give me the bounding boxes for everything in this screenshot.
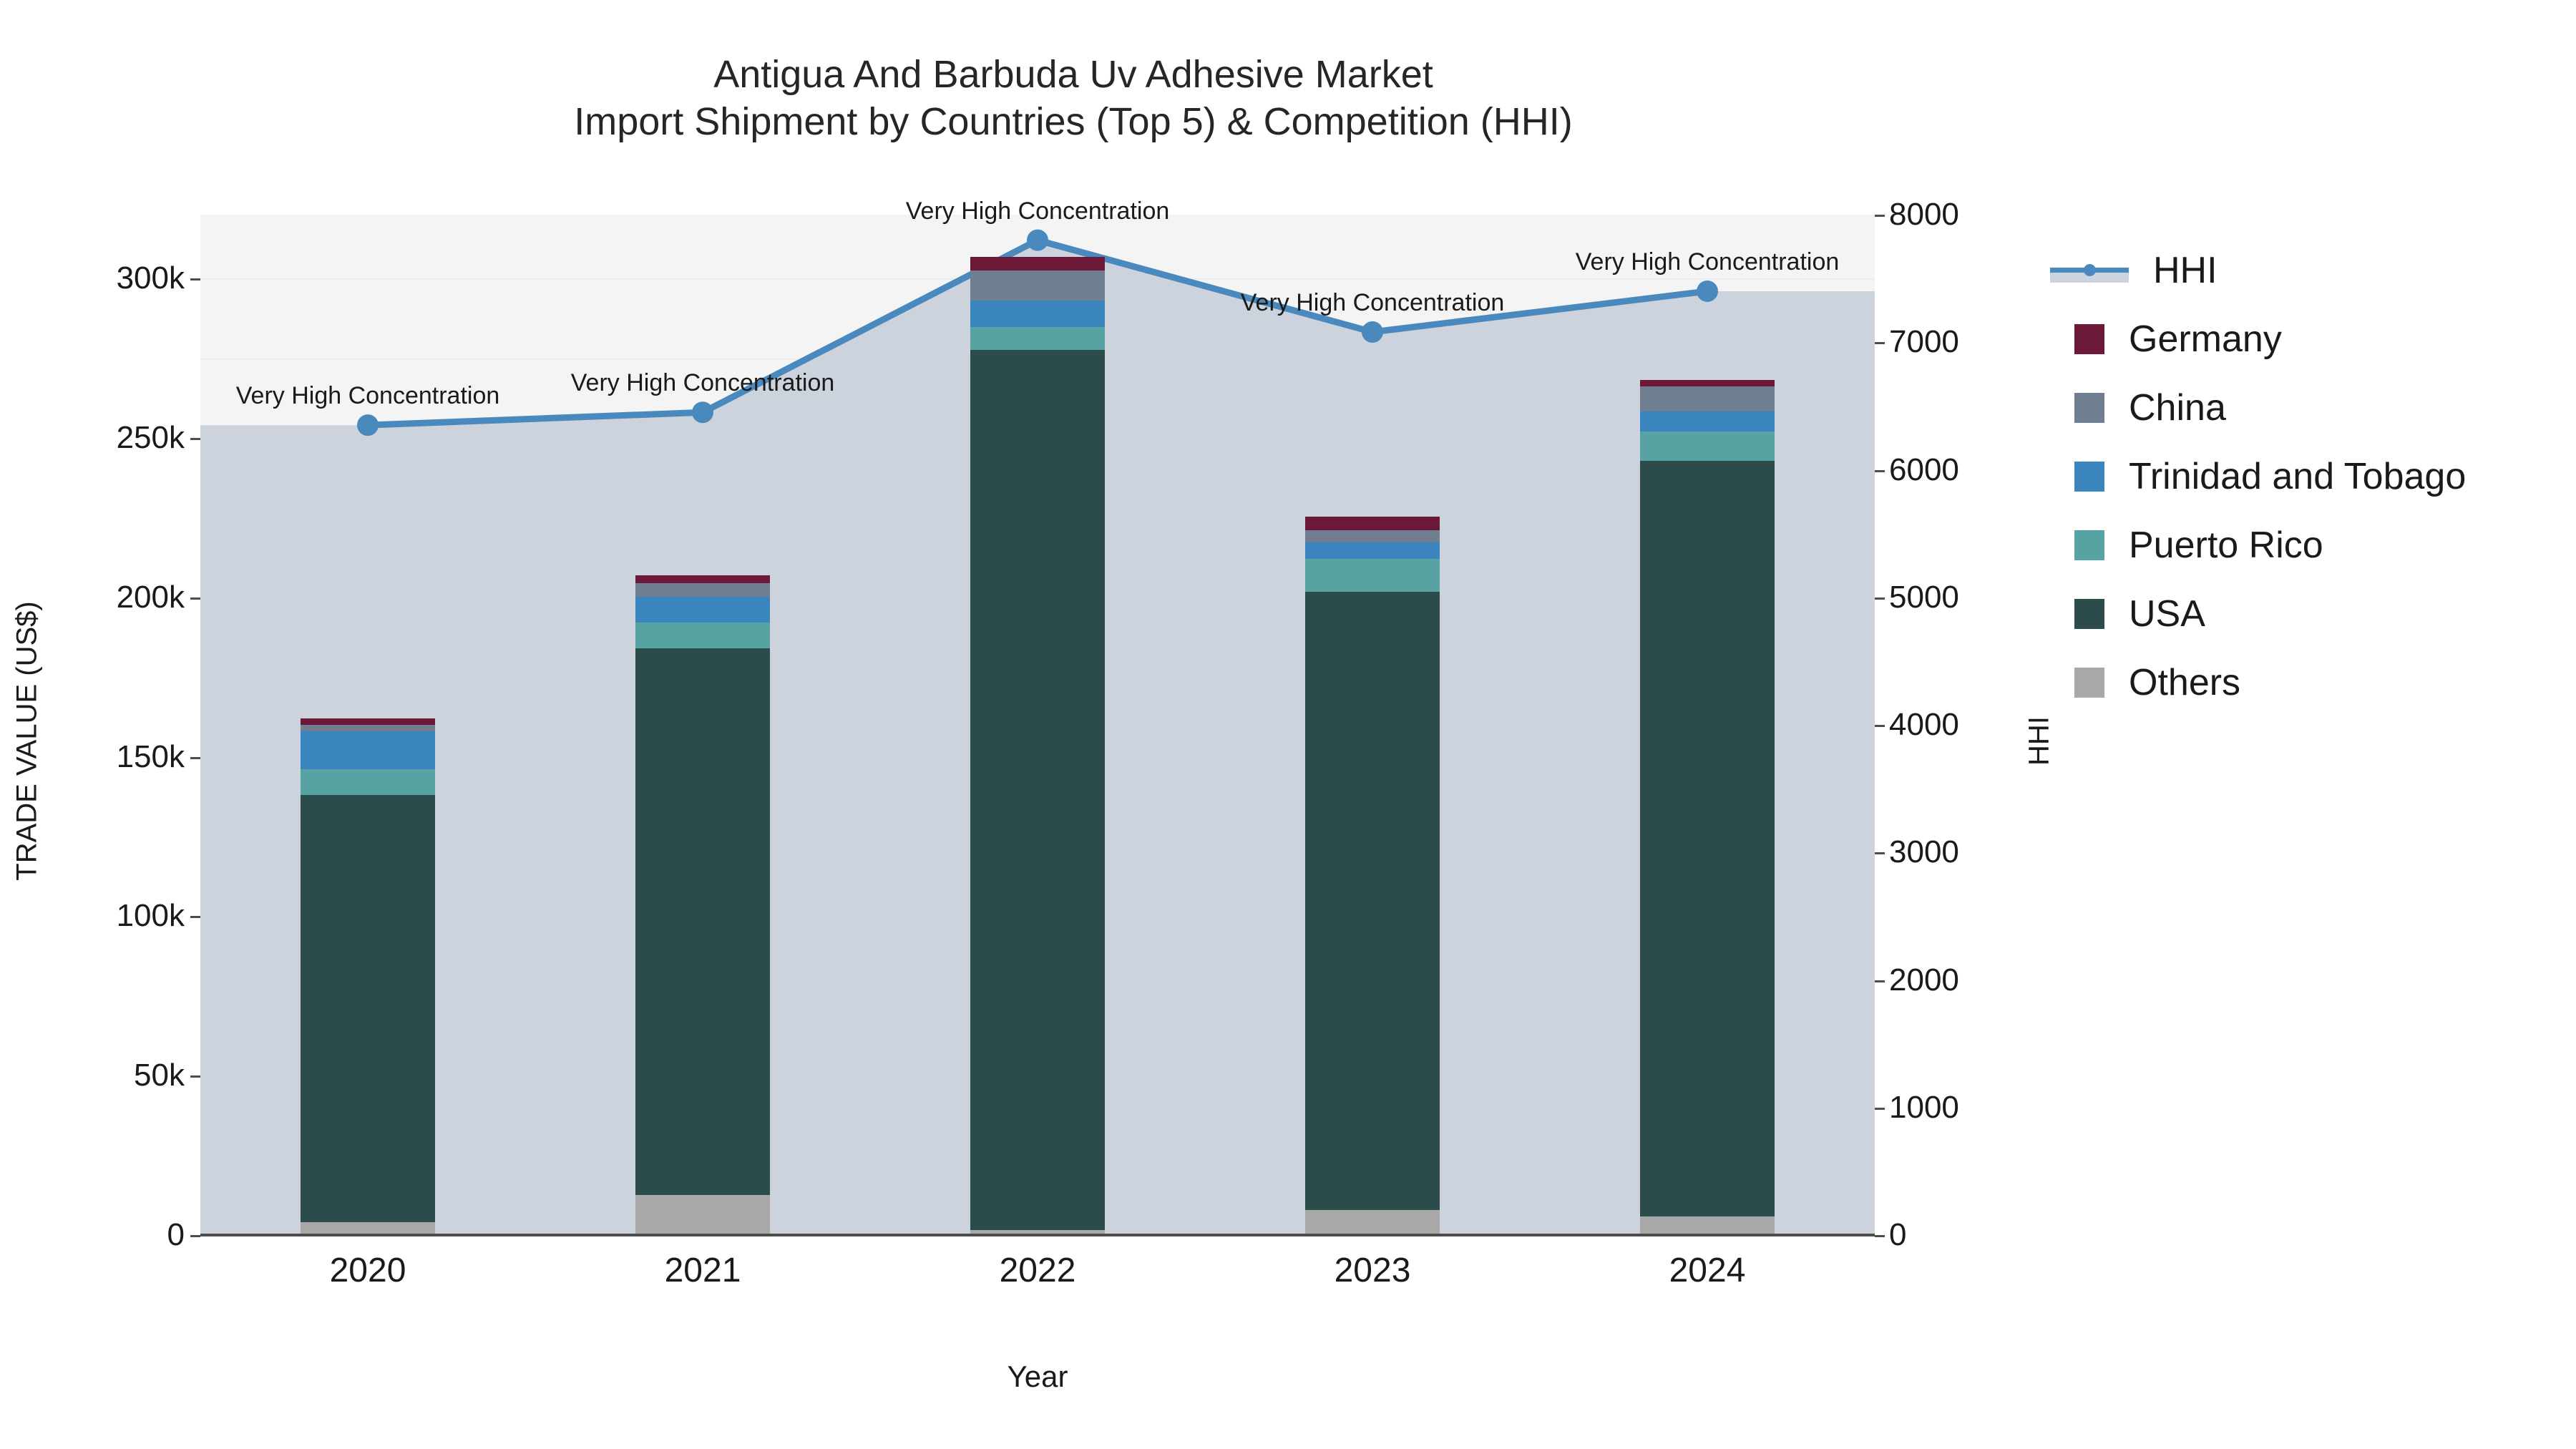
hhi-data-point[interactable] <box>357 414 379 436</box>
bar-2023[interactable] <box>1305 517 1440 1235</box>
bar-segment-others[interactable] <box>1640 1216 1775 1235</box>
x-axis-label: Year <box>200 1360 1875 1394</box>
bar-2024[interactable] <box>1640 380 1775 1235</box>
concentration-label: Very High Concentration <box>571 369 835 397</box>
y-axis-right-tick: 2000 <box>1889 962 2061 998</box>
y-axis-left-tickmark <box>190 1235 200 1237</box>
legend-item-usa[interactable]: USA <box>2050 580 2466 648</box>
bar-segment-puerto-rico[interactable] <box>970 327 1105 350</box>
y-axis-left-tick: 0 <box>0 1217 185 1253</box>
chart-title-line-2: Import Shipment by Countries (Top 5) & C… <box>0 99 2147 146</box>
y-axis-right-tickmark <box>1875 980 1885 982</box>
legend-item-germany[interactable]: Germany <box>2050 305 2466 374</box>
legend-item-puerto-rico[interactable]: Puerto Rico <box>2050 511 2466 580</box>
y-axis-right-tick: 1000 <box>1889 1090 2061 1126</box>
y-axis-right-tickmark <box>1875 852 1885 854</box>
y-axis-left-tickmark <box>190 597 200 600</box>
legend-label: HHI <box>2153 249 2218 292</box>
bar-segment-trinidad-and-tobago[interactable] <box>301 731 435 769</box>
y-axis-right-tickmark <box>1875 342 1885 344</box>
concentration-label: Very High Concentration <box>1241 289 1505 317</box>
y-axis-left-tickmark <box>190 757 200 759</box>
color-swatch-icon <box>2074 462 2104 492</box>
bar-segment-others[interactable] <box>635 1195 770 1235</box>
x-axis-tick-2021: 2021 <box>665 1251 741 1290</box>
color-swatch-icon <box>2074 599 2104 629</box>
x-axis-tick-2022: 2022 <box>1000 1251 1076 1290</box>
bar-segment-usa[interactable] <box>301 795 435 1222</box>
bar-segment-usa[interactable] <box>635 648 770 1195</box>
bar-segment-germany[interactable] <box>970 257 1105 270</box>
y-axis-right-tick: 6000 <box>1889 452 2061 488</box>
x-axis-line <box>200 1234 1875 1236</box>
y-axis-left-tick: 300k <box>0 260 185 296</box>
chart-canvas: Antigua And Barbuda Uv Adhesive Market I… <box>0 0 2576 1449</box>
plot-area: Very High ConcentrationVery High Concent… <box>200 215 1875 1235</box>
y-axis-right-tickmark <box>1875 1108 1885 1110</box>
color-swatch-icon <box>2074 324 2104 354</box>
y-axis-left-tickmark <box>190 916 200 918</box>
bar-segment-puerto-rico[interactable] <box>1640 431 1775 461</box>
legend-label: Trinidad and Tobago <box>2129 455 2466 498</box>
legend-label: Others <box>2129 661 2240 704</box>
color-swatch-icon <box>2074 668 2104 698</box>
y-axis-right-tick: 8000 <box>1889 197 2061 233</box>
bar-segment-puerto-rico[interactable] <box>1305 559 1440 591</box>
y-axis-right-tick: 7000 <box>1889 324 2061 360</box>
concentration-label: Very High Concentration <box>906 197 1170 225</box>
bar-segment-china[interactable] <box>1640 386 1775 411</box>
legend-item-trinidad-and-tobago[interactable]: Trinidad and Tobago <box>2050 442 2466 511</box>
bar-segment-trinidad-and-tobago[interactable] <box>970 301 1105 327</box>
bar-2021[interactable] <box>635 575 770 1235</box>
legend-item-others[interactable]: Others <box>2050 648 2466 717</box>
bar-segment-trinidad-and-tobago[interactable] <box>635 597 770 623</box>
hhi-data-point[interactable] <box>692 401 713 423</box>
y-axis-left-tick: 50k <box>0 1058 185 1093</box>
bar-segment-trinidad-and-tobago[interactable] <box>1305 542 1440 559</box>
y-axis-left-label: TRADE VALUE (US$) <box>11 527 44 956</box>
concentration-label: Very High Concentration <box>236 382 500 410</box>
hhi-data-point[interactable] <box>1697 280 1718 302</box>
x-axis-tick-2020: 2020 <box>330 1251 406 1290</box>
bar-segment-trinidad-and-tobago[interactable] <box>1640 411 1775 431</box>
y-axis-right-tickmark <box>1875 215 1885 217</box>
hhi-data-point[interactable] <box>1027 230 1048 251</box>
chart-title: Antigua And Barbuda Uv Adhesive Market I… <box>0 52 2147 146</box>
y-axis-left-tickmark <box>190 1075 200 1078</box>
legend-label: USA <box>2129 592 2205 635</box>
legend: HHIGermanyChinaTrinidad and TobagoPuerto… <box>2050 236 2466 717</box>
color-swatch-icon <box>2074 530 2104 560</box>
legend-line-marker <box>2084 264 2096 276</box>
line-marker-icon <box>2050 255 2129 286</box>
bar-segment-china[interactable] <box>301 725 435 731</box>
x-axis-tick-2024: 2024 <box>1669 1251 1746 1290</box>
color-swatch-icon <box>2074 393 2104 423</box>
bar-2020[interactable] <box>301 718 435 1235</box>
bar-segment-germany[interactable] <box>1640 380 1775 386</box>
bar-segment-others[interactable] <box>1305 1210 1440 1235</box>
concentration-label: Very High Concentration <box>1576 248 1840 276</box>
legend-label: Puerto Rico <box>2129 524 2323 567</box>
x-axis-tick-2023: 2023 <box>1335 1251 1411 1290</box>
bar-segment-germany[interactable] <box>635 575 770 583</box>
bar-segment-china[interactable] <box>970 270 1105 301</box>
bar-segment-puerto-rico[interactable] <box>301 769 435 795</box>
bar-segment-china[interactable] <box>1305 530 1440 542</box>
y-axis-right-tickmark <box>1875 1235 1885 1237</box>
y-axis-left-tickmark <box>190 438 200 440</box>
bar-segment-usa[interactable] <box>970 350 1105 1230</box>
chart-title-line-1: Antigua And Barbuda Uv Adhesive Market <box>0 52 2147 99</box>
y-axis-left-tick: 250k <box>0 420 185 456</box>
legend-item-hhi[interactable]: HHI <box>2050 236 2466 305</box>
bar-segment-germany[interactable] <box>1305 517 1440 530</box>
y-axis-right-tickmark <box>1875 470 1885 472</box>
bar-segment-puerto-rico[interactable] <box>635 623 770 649</box>
hhi-data-point[interactable] <box>1362 321 1383 343</box>
y-axis-right-tickmark <box>1875 725 1885 727</box>
legend-item-china[interactable]: China <box>2050 374 2466 442</box>
bar-2022[interactable] <box>970 257 1105 1235</box>
bar-segment-china[interactable] <box>635 583 770 597</box>
y-axis-right-tickmark <box>1875 597 1885 600</box>
legend-label: China <box>2129 386 2226 429</box>
bar-segment-germany[interactable] <box>301 718 435 725</box>
y-axis-right-tick: 0 <box>1889 1217 2061 1253</box>
bar-segment-usa[interactable] <box>1640 461 1775 1216</box>
bar-segment-usa[interactable] <box>1305 592 1440 1211</box>
y-axis-left-tickmark <box>190 278 200 280</box>
legend-label: Germany <box>2129 318 2282 361</box>
